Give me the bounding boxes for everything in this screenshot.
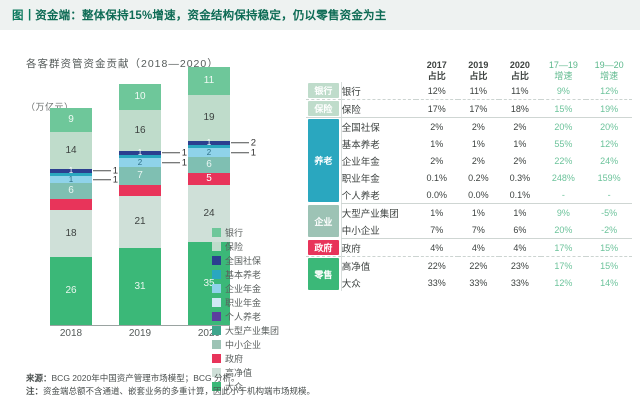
data-table-body: 银行银行12%11%11%9%12%保险保险17%17%18%15%19%养老全… (306, 82, 632, 291)
cell-share-2019: 0.2% (458, 169, 500, 186)
bar-segment-value: 6 (206, 160, 212, 170)
legend-swatch-icon (212, 256, 221, 265)
cell-growth-19-20: 19% (586, 100, 632, 118)
cell-share-2019: 33% (458, 274, 500, 291)
callout-value: 1 (182, 158, 187, 168)
cell-share-2020: 11% (499, 82, 541, 100)
row-group-label-企业: 企业 (306, 204, 341, 239)
legend-item[interactable]: 保险 (212, 240, 279, 253)
cell-share-2019: 1% (458, 135, 500, 152)
cell-share-2017: 33% (416, 274, 458, 291)
legend-item[interactable]: 大型产业集团 (212, 324, 279, 337)
bar-segment-value: 31 (134, 282, 145, 292)
row-name: 大众 (341, 274, 416, 291)
bar-segment: 11 (188, 67, 230, 95)
table-row: 个人养老0.0%0.0%0.1%-- (306, 186, 632, 204)
bar-segment: 5 (188, 173, 230, 185)
cell-share-2019: 2% (458, 118, 500, 136)
cell-growth-19-20: 15% (586, 257, 632, 275)
cell-growth-19-20: 24% (586, 152, 632, 169)
chart-plot-area: 914111161826101611217213111191221652435 … (28, 72, 200, 327)
row-group-badge: 银行 (308, 83, 339, 98)
legend-swatch-icon (212, 354, 221, 363)
row-name: 银行 (341, 82, 416, 100)
bar-segment-callout: 1 (231, 148, 256, 158)
row-name: 个人养老 (341, 186, 416, 204)
cell-share-2019: 22% (458, 257, 500, 275)
table-row: 企业年金2%2%2%22%24% (306, 152, 632, 169)
bar-segment: 10 (119, 84, 161, 110)
cell-share-2017: 0.0% (416, 186, 458, 204)
bar-segment: 6 (188, 157, 230, 173)
legend-label: 保险 (225, 240, 243, 253)
cell-share-2017: 2% (416, 118, 458, 136)
column-header-metric: 占比 (458, 71, 500, 82)
bar-segment: 31 (119, 248, 161, 325)
x-axis-tick-2019: 2019 (119, 328, 161, 339)
cell-share-2019: 17% (458, 100, 500, 118)
legend-item[interactable]: 个人养老 (212, 310, 279, 323)
cell-share-2017: 12% (416, 82, 458, 100)
column-header-metric: 占比 (499, 71, 541, 82)
column-header-2020: 2020占比 (499, 60, 541, 82)
column-header-period: 2019 (458, 60, 500, 71)
row-group-label-保险: 保险 (306, 100, 341, 118)
bar-segment-value: 18 (65, 229, 76, 239)
table-row: 保险保险17%17%18%15%19% (306, 100, 632, 118)
cell-growth-17-19: 17% (541, 257, 587, 275)
row-group-label-零售: 零售 (306, 257, 341, 292)
legend-label: 个人养老 (225, 310, 261, 323)
row-name: 企业年金 (341, 152, 416, 169)
column-header-metric: 占比 (416, 71, 458, 82)
bar-segment-value: 24 (203, 209, 214, 219)
bar-segment-value: 9 (68, 115, 74, 125)
cell-share-2020: 4% (499, 239, 541, 257)
legend-swatch-icon (212, 312, 221, 321)
row-name: 政府 (341, 239, 416, 257)
legend-swatch-icon (212, 326, 221, 335)
bar-segment: 16 (119, 110, 161, 151)
cell-growth-17-19: 9% (541, 82, 587, 100)
legend-label: 职业年金 (225, 296, 261, 309)
row-name: 基本养老 (341, 135, 416, 152)
table-row: 大众33%33%33%12%14% (306, 274, 632, 291)
bar-segment-value: 21 (134, 217, 145, 227)
bar-segment (119, 185, 161, 196)
figure-page: 图 | 资金端：整体保持15%增速，资金结构保持稳定，仍以零售资金为主 各客群资… (0, 0, 640, 414)
cell-growth-17-19: 12% (541, 274, 587, 291)
bar-segment-value: 2 (207, 149, 211, 157)
legend-swatch-icon (212, 270, 221, 279)
bar-column-2018: 914111161826 (50, 108, 92, 325)
table-row: 政府政府4%4%4%17%15% (306, 239, 632, 257)
row-name: 保险 (341, 100, 416, 118)
note-value: 资金端总额不含通道、嵌套业务的多重计算，因此小于机构端市场规模。 (43, 386, 315, 396)
callout-leader-line (93, 179, 111, 180)
figure-header-separator: | (28, 9, 31, 21)
row-group-label-银行: 银行 (306, 82, 341, 100)
legend-label: 企业年金 (225, 282, 261, 295)
callout-leader-line (162, 162, 180, 163)
cell-growth-17-19: 22% (541, 152, 587, 169)
cell-growth-17-19: 17% (541, 239, 587, 257)
source-line: 来源：BCG 2020年中国资产管理市场模型；BCG 分析。 (26, 372, 526, 385)
row-name: 全国社保 (341, 118, 416, 136)
bar-segment-value: 16 (134, 126, 145, 136)
column-header-period: 2017 (416, 60, 458, 71)
cell-share-2019: 0.0% (458, 186, 500, 204)
cell-growth-19-20: 12% (586, 82, 632, 100)
source-value: BCG 2020年中国资产管理市场模型；BCG 分析。 (52, 373, 240, 383)
bar-segment-value: 7 (137, 171, 143, 181)
chart-panel: （万亿元） 9141111618261016112172131111912216… (0, 72, 300, 347)
cell-growth-17-19: 9% (541, 204, 587, 222)
cell-share-2017: 4% (416, 239, 458, 257)
cell-growth-17-19: 55% (541, 135, 587, 152)
bar-segment: 14 (50, 132, 92, 169)
cell-share-2020: 33% (499, 274, 541, 291)
callout-leader-line (231, 152, 249, 153)
legend-label: 大型产业集团 (225, 324, 279, 337)
figure-footnotes: 来源：BCG 2020年中国资产管理市场模型；BCG 分析。 注：资金端总额不含… (26, 372, 526, 398)
column-header-2017: 2017占比 (416, 60, 458, 82)
callout-leader-line (162, 153, 180, 154)
column-header-2019: 2019占比 (458, 60, 500, 82)
column-header-metric: 增速 (541, 71, 587, 82)
table-row: 企业大型产业集团1%1%1%9%-5% (306, 204, 632, 222)
legend-swatch-icon (212, 298, 221, 307)
bar-segment-value: 10 (134, 92, 145, 102)
chart-legend: 银行保险全国社保基本养老企业年金职业年金个人养老大型产业集团中小企业政府高净值大… (212, 226, 279, 393)
cell-share-2020: 2% (499, 152, 541, 169)
cell-share-2017: 17% (416, 100, 458, 118)
legend-swatch-icon (212, 242, 221, 251)
bar-segment-value: 11 (204, 76, 214, 86)
cell-share-2020: 1% (499, 135, 541, 152)
row-name: 大型产业集团 (341, 204, 416, 222)
chart-x-axis-labels: 201820192020 (50, 328, 230, 339)
table-row: 基本养老1%1%1%55%12% (306, 135, 632, 152)
cell-share-2019: 11% (458, 82, 500, 100)
column-header-17-19: 17—19增速 (541, 60, 587, 82)
legend-item[interactable]: 全国社保 (212, 254, 279, 267)
cell-share-2020: 18% (499, 100, 541, 118)
bar-segment: 26 (50, 257, 92, 325)
cell-share-2019: 1% (458, 204, 500, 222)
callout-leader-line (231, 143, 249, 144)
column-header-period: 2020 (499, 60, 541, 71)
cell-share-2019: 4% (458, 239, 500, 257)
table-row: 职业年金0.1%0.2%0.3%248%159% (306, 169, 632, 186)
cell-share-2017: 1% (416, 204, 458, 222)
bar-segment: 21 (119, 158, 161, 167)
callout-leader-line (93, 171, 111, 172)
legend-label: 银行 (225, 226, 243, 239)
row-name: 高净值 (341, 257, 416, 275)
row-group-badge: 零售 (308, 258, 339, 290)
cell-growth-19-20: -5% (586, 204, 632, 222)
bar-segment (50, 199, 92, 210)
figure-tag: 图 (12, 7, 24, 23)
cell-share-2017: 22% (416, 257, 458, 275)
bar-segment: 18 (50, 210, 92, 257)
row-group-badge: 养老 (308, 119, 339, 202)
legend-swatch-icon (212, 340, 221, 349)
cell-share-2019: 7% (458, 221, 500, 239)
cell-growth-19-20: 12% (586, 135, 632, 152)
legend-label: 全国社保 (225, 254, 261, 267)
cell-share-2020: 6% (499, 221, 541, 239)
column-header-period: 19—20 (586, 60, 632, 71)
legend-item[interactable]: 职业年金 (212, 296, 279, 309)
figure-header-inner: 图 | 资金端：整体保持15%增速，资金结构保持稳定，仍以零售资金为主 (0, 7, 386, 23)
cell-share-2017: 2% (416, 152, 458, 169)
cell-growth-17-19: 15% (541, 100, 587, 118)
cell-share-2020: 2% (499, 118, 541, 136)
bar-segment-callout: 1 (162, 158, 187, 168)
cell-share-2020: 23% (499, 257, 541, 275)
stacked-bar-group: 914111161826101611217213111191221652435 (50, 74, 230, 325)
column-header-blank (341, 60, 416, 82)
legend-item[interactable]: 中小企业 (212, 338, 279, 351)
bar-segment: 11 (50, 176, 92, 183)
legend-swatch-icon (212, 284, 221, 293)
cell-share-2017: 7% (416, 221, 458, 239)
source-label: 来源： (26, 373, 52, 383)
bar-segment: 21 (119, 196, 161, 248)
row-group-badge: 政府 (308, 240, 339, 255)
legend-item[interactable]: 企业年金 (212, 282, 279, 295)
cell-growth-17-19: 20% (541, 221, 587, 239)
bar-segment-value: 14 (65, 146, 76, 156)
callout-value: 1 (251, 148, 256, 158)
bar-segment-value: 26 (65, 286, 76, 296)
legend-label: 政府 (225, 352, 243, 365)
bar-column-2019: 1016112172131 (119, 84, 161, 325)
table-row: 养老全国社保2%2%2%20%20% (306, 118, 632, 136)
legend-label: 中小企业 (225, 338, 261, 351)
cell-share-2017: 1% (416, 135, 458, 152)
cell-growth-19-20: 14% (586, 274, 632, 291)
bar-segment: 21 (188, 148, 230, 157)
cell-growth-19-20: -2% (586, 221, 632, 239)
table-row: 零售高净值22%22%23%17%15% (306, 257, 632, 275)
cell-share-2020: 0.3% (499, 169, 541, 186)
x-axis-tick-2018: 2018 (50, 328, 92, 339)
figure-header-bar: 图 | 资金端：整体保持15%增速，资金结构保持稳定，仍以零售资金为主 (0, 0, 640, 30)
row-name: 中小企业 (341, 221, 416, 239)
cell-growth-17-19: 248% (541, 169, 587, 186)
bar-segment: 6 (50, 183, 92, 199)
legend-item[interactable]: 银行 (212, 226, 279, 239)
bar-segment-value: 5 (206, 174, 212, 184)
row-name: 职业年金 (341, 169, 416, 186)
column-header-19-20: 19—20增速 (586, 60, 632, 82)
cell-share-2017: 0.1% (416, 169, 458, 186)
bar-segment-value: 2 (138, 159, 142, 167)
table-row: 银行银行12%11%11%9%12% (306, 82, 632, 100)
row-group-label-养老: 养老 (306, 118, 341, 204)
column-header-blank (306, 60, 341, 82)
note-line: 注：资金端总额不含通道、嵌套业务的多重计算，因此小于机构端市场规模。 (26, 385, 526, 398)
cell-share-2020: 0.1% (499, 186, 541, 204)
bar-segment-callout: 1 (93, 175, 118, 185)
table-row: 中小企业7%7%6%20%-2% (306, 221, 632, 239)
bar-segment: 19 (188, 95, 230, 141)
cell-share-2019: 2% (458, 152, 500, 169)
row-group-badge: 保险 (308, 101, 339, 116)
cell-growth-17-19: 20% (541, 118, 587, 136)
cell-growth-19-20: 15% (586, 239, 632, 257)
legend-label: 基本养老 (225, 268, 261, 281)
cell-growth-19-20: 159% (586, 169, 632, 186)
data-table-head: 2017占比2019占比2020占比17—19增速19—20增速 (306, 60, 632, 82)
cell-share-2020: 1% (499, 204, 541, 222)
cell-growth-17-19: - (541, 186, 587, 204)
legend-swatch-icon (212, 228, 221, 237)
legend-item[interactable]: 政府 (212, 352, 279, 365)
bar-segment-value: 6 (68, 186, 74, 196)
row-group-badge: 企业 (308, 205, 339, 237)
bar-segment: 7 (119, 167, 161, 185)
legend-item[interactable]: 基本养老 (212, 268, 279, 281)
bar-segment-value: 19 (203, 113, 214, 123)
data-table-header-row: 2017占比2019占比2020占比17—19增速19—20增速 (306, 60, 632, 82)
cell-growth-19-20: - (586, 186, 632, 204)
column-header-period: 17—19 (541, 60, 587, 71)
chart-axis-line (50, 325, 230, 326)
note-label: 注： (26, 386, 43, 396)
cell-growth-19-20: 20% (586, 118, 632, 136)
bar-segment: 9 (50, 108, 92, 132)
column-header-metric: 增速 (586, 71, 632, 82)
row-group-label-政府: 政府 (306, 239, 341, 257)
callout-value: 1 (113, 175, 118, 185)
data-table-panel: 2017占比2019占比2020占比17—19增速19—20增速 银行银行12%… (306, 60, 632, 291)
figure-title: 资金端：整体保持15%增速，资金结构保持稳定，仍以零售资金为主 (35, 7, 386, 23)
data-table: 2017占比2019占比2020占比17—19增速19—20增速 银行银行12%… (306, 60, 632, 291)
